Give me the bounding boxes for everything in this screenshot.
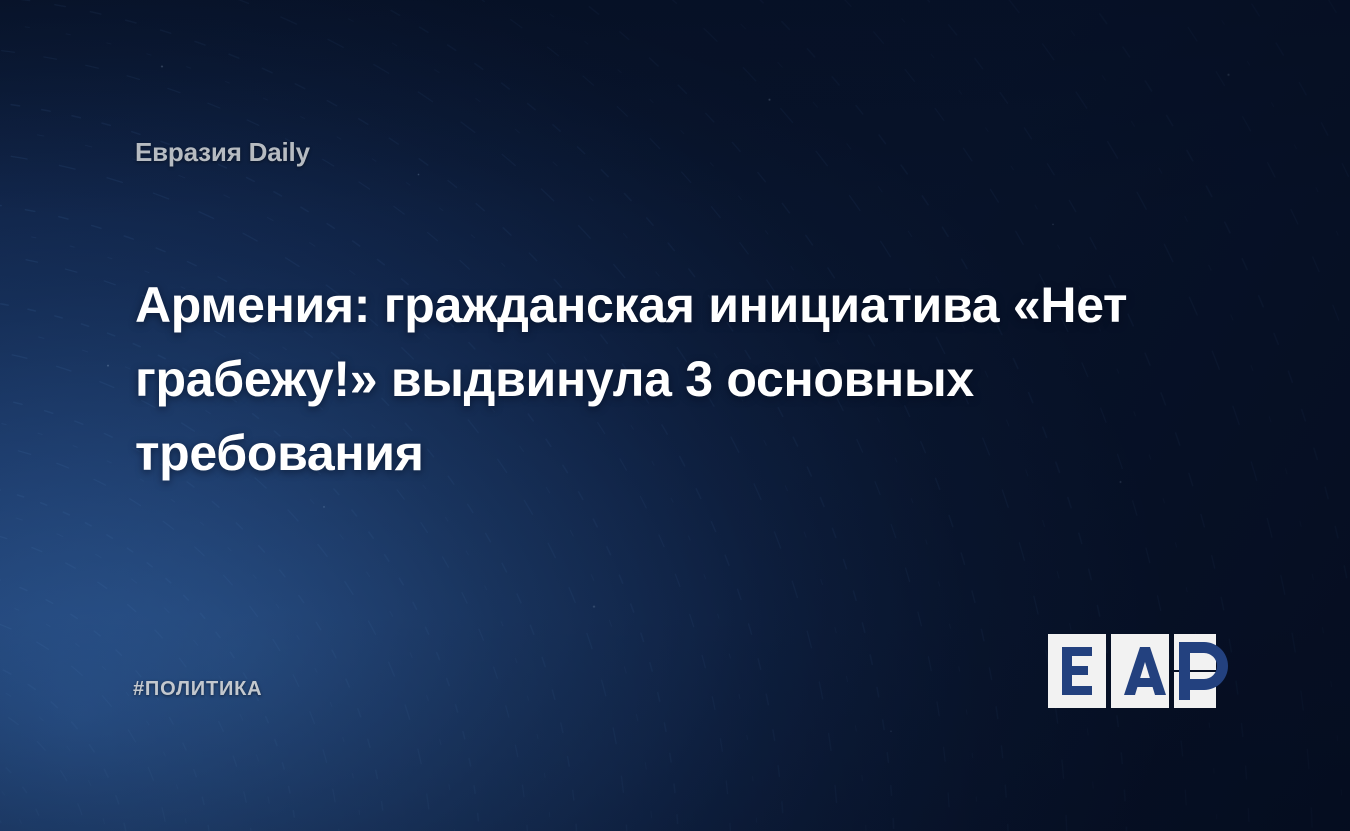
mark-letter-e [1062, 647, 1092, 695]
site-logo-wordmark[interactable]: Евразия Daily [135, 137, 310, 168]
news-share-card: Евразия Daily Армения: гражданская иници… [0, 0, 1350, 831]
category-hashtag[interactable]: #ПОЛИТИКА [133, 678, 262, 701]
ead-logo-mark[interactable] [1046, 628, 1230, 714]
page-title: Армения: гражданская инициатива «Нет гра… [135, 268, 1245, 490]
card-content: Евразия Daily Армения: гражданская иници… [0, 0, 1350, 831]
